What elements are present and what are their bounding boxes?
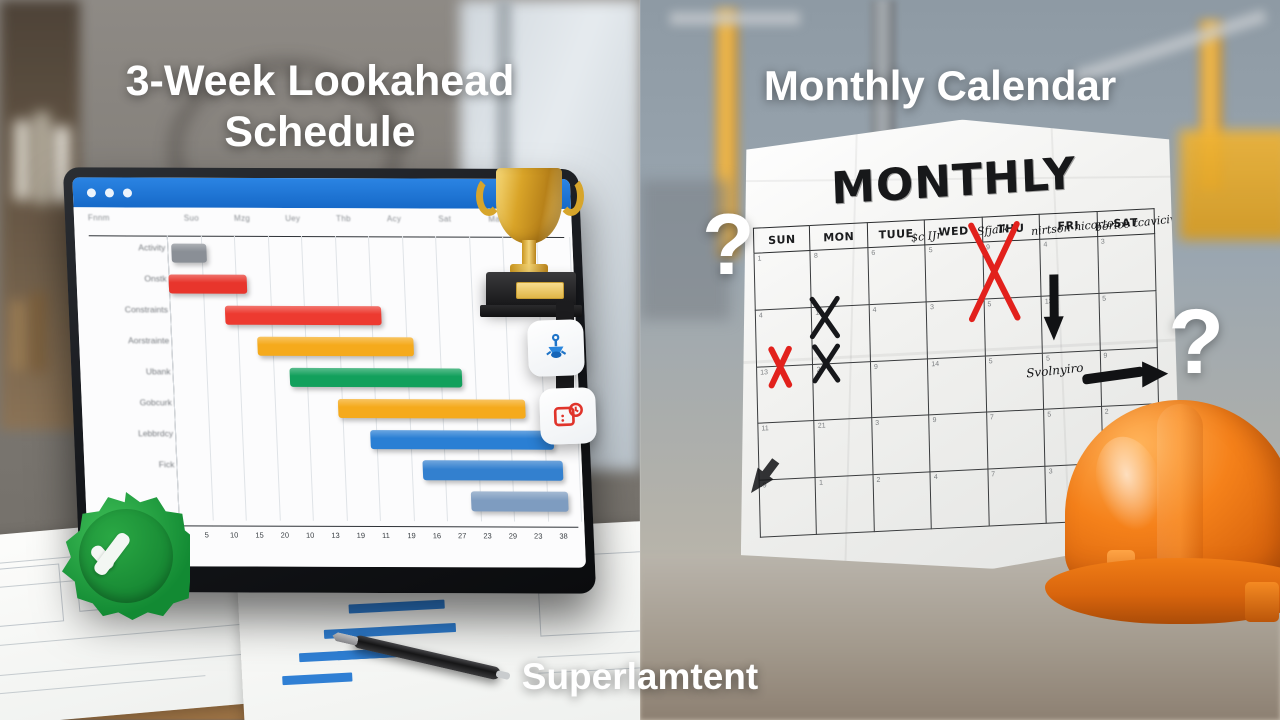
trophy-plaque: [516, 282, 564, 299]
gantt-header-corner: Fnnm: [74, 213, 167, 235]
calendar-date-number: 3: [1101, 239, 1105, 246]
hard-hat: [1045, 400, 1280, 660]
gantt-x-tick: 5: [204, 530, 230, 548]
gantt-x-tick: 23: [483, 531, 509, 549]
calendar-date-number: 1: [819, 480, 823, 487]
gantt-x-tick: 11: [382, 531, 408, 549]
calendar-cell[interactable]: 7: [988, 467, 1047, 527]
gantt-bar[interactable]: [257, 336, 414, 356]
calendar-date-number: 4: [1043, 241, 1047, 248]
calendar-title: MONTHLY: [728, 142, 1179, 221]
gantt-row-label: Lebbrdcy: [93, 428, 174, 438]
gantt-header-4: Thb: [318, 214, 370, 236]
gantt-x-axis: [179, 525, 578, 527]
left-title: 3-Week Lookahead Schedule: [40, 56, 600, 157]
window-dot-3[interactable]: [123, 188, 132, 197]
hard-hat-ridge: [1157, 404, 1203, 579]
left-title-line2: Schedule: [40, 107, 600, 158]
calendar-date-number: 4: [759, 312, 763, 319]
question-mark-icon-1: ?: [702, 196, 755, 295]
calendar-cell[interactable]: 1: [816, 475, 875, 535]
calendar-date-number: 5: [989, 358, 993, 365]
calendar-date-number: 9: [874, 363, 878, 370]
calendar-date-number: 4: [934, 474, 938, 481]
hard-hat-clip-right: [1245, 582, 1279, 622]
gantt-x-tick: 15: [255, 531, 281, 549]
footer-caption: Superlamtent: [0, 656, 1280, 698]
gantt-row-label: Constraints: [88, 304, 169, 314]
black-x-mark-1: [802, 292, 848, 344]
gantt-x-tick: 19: [407, 531, 433, 549]
calendar-date-number: 9: [1103, 352, 1107, 359]
clock-calendar-icon[interactable]: [539, 387, 597, 445]
calendar-date-number: 11: [761, 426, 768, 433]
gantt-bar[interactable]: [289, 367, 462, 387]
gantt-row: Gobcurk: [81, 394, 580, 427]
down-arrow-mark: [1043, 274, 1064, 341]
calendar-date-number: 3: [875, 420, 879, 427]
calendar-date-number: 2: [876, 477, 880, 484]
calendar-day-header: MON: [810, 222, 868, 251]
window-dot-2[interactable]: [105, 188, 114, 197]
composite-image: Fnnm Suo Mzg Uey Thb Acy Sat Mat Sash Ac…: [0, 0, 1280, 720]
gantt-x-tick: 27: [458, 531, 484, 549]
calendar-cell[interactable]: 9: [871, 359, 930, 419]
calendar-date-number: 21: [818, 423, 826, 430]
calendar-date-number: 5: [929, 247, 933, 254]
gantt-row: Aorstrainte: [79, 332, 578, 365]
calendar-cell[interactable]: 6: [868, 245, 927, 305]
calendar-date-number: 5: [1102, 295, 1106, 302]
gantt-header-6: Sat: [419, 214, 471, 236]
calendar-cell[interactable]: 4: [870, 302, 929, 362]
crane-icon[interactable]: [527, 319, 585, 377]
panel-divider: [639, 0, 641, 720]
calendar-cell[interactable]: 3: [1098, 234, 1157, 294]
calendar-cell[interactable]: 2: [873, 473, 932, 533]
gantt-row-label: Aorstrainte: [89, 335, 170, 345]
question-mark-icon-2: ?: [1168, 290, 1224, 395]
calendar-cell[interactable]: 7: [987, 410, 1046, 470]
left-title-line1: 3-Week Lookahead: [40, 56, 600, 107]
calendar-date-number: 3: [930, 304, 934, 311]
calendar-date-number: 8: [814, 253, 818, 260]
gantt-row-label: Gobcurk: [91, 397, 172, 407]
red-x-mark-small: [758, 343, 802, 391]
gantt-x-tick: 23: [534, 532, 560, 550]
calendar-date-number: 4: [873, 307, 877, 314]
gantt-bar[interactable]: [224, 305, 381, 325]
gantt-x-tick: 38: [559, 532, 585, 550]
gantt-bar[interactable]: [470, 492, 568, 512]
right-title: Monthly Calendar: [660, 62, 1220, 110]
calendar-cell[interactable]: 5: [986, 353, 1045, 413]
checkmark-icon: [96, 528, 156, 562]
gantt-bar[interactable]: [370, 430, 554, 450]
gantt-x-tick: 10: [306, 531, 332, 549]
calendar-cell[interactable]: 3: [872, 416, 931, 476]
gantt-bar[interactable]: [338, 399, 526, 419]
trophy-cup: [496, 168, 562, 244]
gantt-x-tick-labels: 051015201013191119162723292338: [179, 530, 585, 549]
verified-check-badge: [62, 492, 190, 620]
calendar-cell[interactable]: 9: [929, 413, 988, 473]
gantt-header-5: Acy: [369, 214, 421, 236]
calendar-cell[interactable]: 5: [1099, 291, 1158, 351]
gantt-row: Lebbrdcy: [83, 425, 582, 458]
calendar-cell[interactable]: 14: [928, 356, 987, 416]
right-arrow-mark: [1082, 361, 1168, 390]
gantt-x-tick: 29: [509, 531, 535, 549]
gantt-x-tick: 20: [280, 531, 306, 549]
gantt-x-tick: 16: [433, 531, 459, 549]
gantt-row: Ubank: [80, 363, 579, 396]
calendar-cell[interactable]: 4: [931, 470, 990, 530]
gantt-row: Fick: [84, 456, 583, 489]
gantt-row-label: Onstk: [86, 273, 167, 283]
window-dot-1[interactable]: [87, 188, 96, 197]
gantt-x-tick: 10: [230, 530, 256, 548]
gantt-bar[interactable]: [171, 243, 207, 262]
calendar-date-number: 14: [931, 360, 939, 367]
gantt-header-1: Suo: [166, 214, 218, 236]
crane-cab: [1180, 130, 1280, 240]
gantt-bar[interactable]: [168, 274, 247, 293]
red-x-mark-large: [951, 215, 1038, 328]
calendar-date-number: 7: [990, 415, 994, 422]
gantt-x-tick: 13: [331, 531, 357, 549]
gantt-header-3: Uey: [267, 214, 319, 236]
gantt-row-label: Ubank: [90, 366, 171, 376]
gantt-row-label: Fick: [94, 459, 175, 469]
gantt-bar[interactable]: [422, 461, 563, 481]
gantt-header-2: Mzg: [217, 214, 269, 236]
calendar-date-number: 6: [871, 250, 875, 257]
black-x-mark-2: [804, 340, 848, 388]
calendar-date-number: 7: [991, 471, 995, 478]
calendar-date-number: 5: [1046, 355, 1050, 362]
gantt-x-tick: 19: [357, 531, 383, 549]
calendar-date-number: 1: [758, 255, 762, 262]
calendar-date-number: 9: [933, 417, 937, 424]
calendar-day-header: SUN: [753, 225, 811, 254]
calendar-cell[interactable]: 21: [815, 419, 874, 479]
gantt-row-label: Activity: [85, 242, 166, 252]
